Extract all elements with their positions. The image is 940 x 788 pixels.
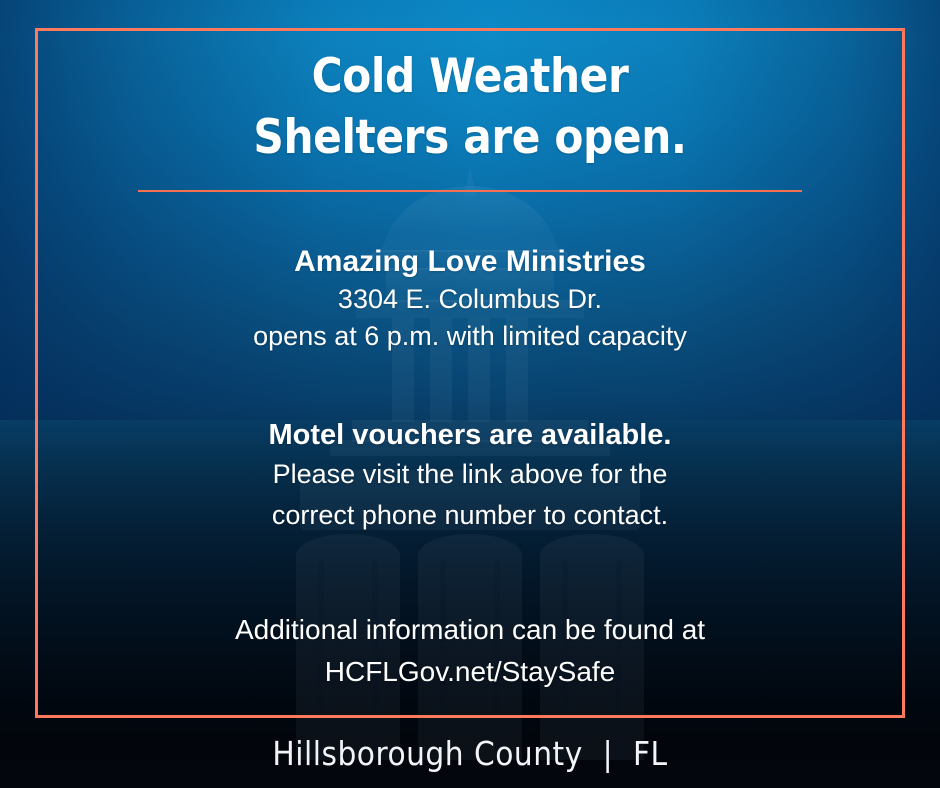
title-divider (138, 190, 802, 192)
title-line-1: Cold Weather (35, 46, 905, 107)
poster-canvas: Cold Weather Shelters are open. Amazing … (0, 0, 940, 788)
voucher-heading: Motel vouchers are available. (35, 417, 905, 455)
footer-brand: Hillsborough County | FL (0, 718, 940, 788)
poster-content: Cold Weather Shelters are open. Amazing … (35, 28, 905, 718)
voucher-line-1: Please visit the link above for the (35, 454, 905, 495)
shelter-block: Amazing Love Ministries 3304 E. Columbus… (35, 242, 905, 354)
more-info-line-1: Additional information can be found at (35, 609, 905, 650)
page-title: Cold Weather Shelters are open. (35, 28, 905, 168)
voucher-block: Motel vouchers are available. Please vis… (35, 417, 905, 536)
more-info-block: Additional information can be found at H… (35, 609, 905, 692)
more-info-url: HCFLGov.net/StaySafe (35, 651, 905, 692)
shelter-name: Amazing Love Ministries (35, 242, 905, 281)
voucher-line-2: correct phone number to contact. (35, 495, 905, 536)
title-line-2: Shelters are open. (35, 107, 905, 168)
shelter-address: 3304 E. Columbus Dr. (35, 281, 905, 318)
shelter-hours: opens at 6 p.m. with limited capacity (35, 318, 905, 355)
footer-brand-text: Hillsborough County | FL (272, 734, 667, 773)
